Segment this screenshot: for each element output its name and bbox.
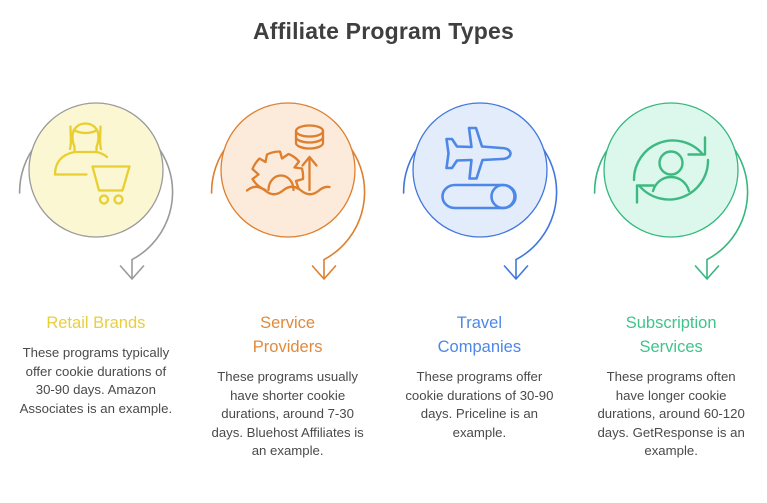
icon-circle: [604, 103, 738, 237]
program-column-retail-brands: Retail Brands These programs typically o…: [0, 86, 192, 461]
column-label-retail-brands: Retail Brands: [40, 311, 151, 335]
badge-service-providers: [192, 86, 384, 311]
program-column-subscription-services: Subscription Services These programs oft…: [575, 86, 767, 461]
column-description-subscription-services: These programs often have longer cookie …: [575, 368, 767, 461]
program-column-travel-companies: Travel Companies These programs offer co…: [384, 86, 576, 461]
page-title: Affiliate Program Types: [0, 18, 767, 45]
column-description-travel-companies: These programs offer cookie durations of…: [384, 368, 576, 442]
column-label-travel-companies: Travel Companies: [432, 311, 527, 359]
program-type-columns: Retail Brands These programs typically o…: [0, 86, 767, 461]
badge-subscription-services: [575, 86, 767, 311]
icon-circle: [221, 103, 355, 237]
icon-circle: [29, 103, 163, 237]
badge-retail-brands: [0, 86, 192, 311]
column-label-service-providers: Service Providers: [247, 311, 329, 359]
column-label-subscription-services: Subscription Services: [620, 311, 723, 359]
column-description-retail-brands: These programs typically offer cookie du…: [0, 344, 192, 418]
column-description-service-providers: These programs usually have shorter cook…: [192, 368, 384, 461]
program-column-service-providers: Service Providers These programs usually…: [192, 86, 384, 461]
badge-travel-companies: [384, 86, 576, 311]
